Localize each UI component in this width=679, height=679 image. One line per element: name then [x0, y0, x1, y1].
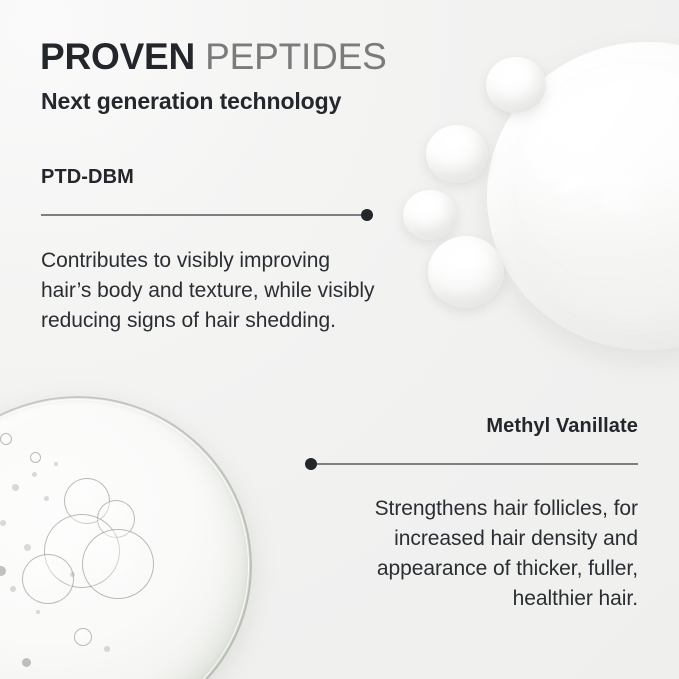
divider-dot-icon [361, 209, 373, 221]
section-heading-methyl-vanillate: Methyl Vanillate [305, 414, 638, 438]
poster-content: PROVEN PEPTIDES Next generation technolo… [0, 0, 679, 679]
page-title-muted: PEPTIDES [205, 36, 386, 77]
section-ptd-dbm: PTD-DBM Contributes to visibly improving… [41, 165, 386, 336]
section-divider-methyl-vanillate [305, 458, 638, 470]
divider-line [305, 463, 638, 465]
section-divider-ptd-dbm [41, 209, 373, 221]
divider-line [41, 214, 373, 216]
divider-dot-icon [305, 458, 317, 470]
page-title-strong: PROVEN [40, 36, 195, 77]
page-subtitle: Next generation technology [41, 88, 341, 115]
section-heading-ptd-dbm: PTD-DBM [41, 165, 386, 189]
section-methyl-vanillate: Methyl Vanillate Strengthens hair follic… [305, 414, 638, 614]
section-body-ptd-dbm: Contributes to visibly improving hair’s … [41, 246, 386, 336]
section-body-methyl-vanillate: Strengthens hair follicles, for increase… [305, 494, 638, 614]
poster-canvas: PROVEN PEPTIDES Next generation technolo… [0, 0, 679, 679]
page-title: PROVEN PEPTIDES [40, 36, 387, 77]
